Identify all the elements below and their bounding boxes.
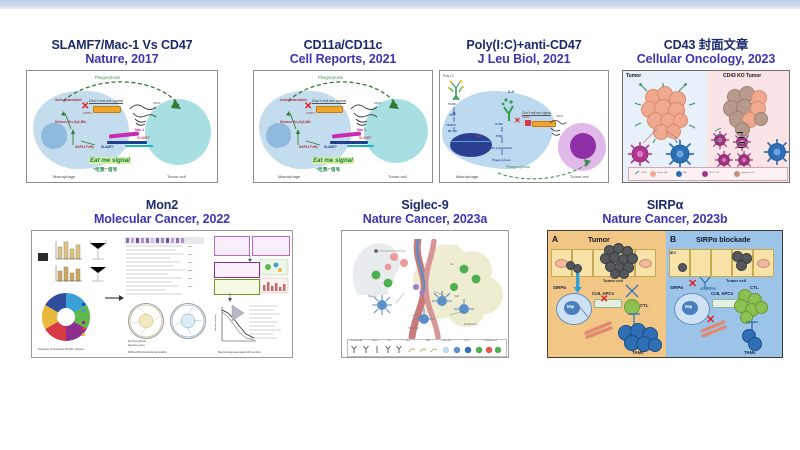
mon2-gene-list: [248, 303, 292, 343]
label-il6r: IL-6R: [495, 123, 503, 126]
mon2-caption-2: Macrophage associated with survival: [218, 352, 260, 355]
panel-mon2: Mon2 Molecular Cancer, 2022: [28, 198, 296, 358]
figure-slamf7: Phagocytosis Don't eat me signal ✕ SIRPα…: [26, 70, 218, 183]
label-mac1: Mac-1: [357, 129, 366, 132]
anti-cd47-block: [525, 120, 531, 126]
svg-text:Survival probability: Survival probability: [214, 314, 217, 331]
label-mphi-b: Mφ: [685, 304, 692, 309]
figure-siglec9: Siglec-9Sia TAMTumor cell Endothelium: [341, 230, 509, 358]
svg-text:TAM: TAM: [454, 295, 459, 298]
label-macrophage: Macrophage: [278, 175, 300, 179]
label-eat-me: Eat me signal: [312, 157, 354, 164]
cd43-legend-icons: [631, 169, 785, 179]
svg-text:gene: gene: [188, 270, 193, 272]
panel-title-polyic: Poly(I:C)+anti-CD47 J Leu Biol, 2021: [434, 38, 614, 66]
tumor-cell-small-a2: [573, 264, 582, 273]
mon2-box-vio-1: [214, 236, 250, 256]
label-cc8-apcs-b: Cc8. APCs: [711, 291, 733, 296]
panel-cd43: CD43 封面文章 Cellular Oncology, 2023 Tumor …: [618, 38, 794, 183]
panel-title-sirpa: SIRPα Nature Cancer, 2023b: [545, 198, 785, 226]
svg-text:gene: gene: [188, 246, 193, 248]
panel-siglec9: Siglec-9 Nature Cancer, 2023a: [330, 198, 520, 358]
signal-arrows-icon: [51, 101, 101, 149]
label-ctl-b: CTL: [750, 285, 759, 290]
macrophage-right-icon: [763, 137, 790, 167]
mon2-caption-1: MDS/scRNA functional annotation: [128, 352, 167, 355]
macrophage-nucleus: [450, 133, 492, 157]
label-sirpa-b: SIRPα: [670, 285, 683, 290]
mon2-triangle-icon: [230, 303, 246, 323]
mon2-network-circle-1: [128, 303, 164, 339]
label-eat-me: Eat me signal: [89, 157, 131, 164]
label-cd47: CD47: [556, 115, 563, 118]
sirpa-panel-a-letter: A: [552, 234, 558, 244]
label-tumor-header: Tumor: [626, 74, 641, 79]
panel-title-mon2: Mon2 Molecular Cancer, 2022: [28, 198, 296, 226]
cd47-receptor-icon: [548, 119, 568, 141]
figure-mon2: Discovery of Extended CD169+ clusters: [31, 230, 293, 358]
svg-text:Siglec-9: Siglec-9: [368, 295, 377, 298]
label-sirpa: SIRPα: [522, 117, 530, 120]
cd47-receptor-icon: [127, 101, 161, 129]
mon2-box-vio-2: [252, 236, 290, 256]
slamf7-bar-macrophage: [330, 141, 368, 144]
slamf7-bar-macrophage: [107, 141, 147, 144]
label-phagocytosis: Phagocytosis: [318, 76, 343, 80]
mon2-network-circle-2: [170, 303, 206, 339]
label-tams-b: TAMs: [744, 350, 756, 355]
panel-polyic-anticd47: Poly(I:C)+anti-CD47 J Leu Biol, 2021 IL-…: [434, 38, 614, 183]
mon2-network-note-2: Signature genes: [128, 345, 145, 347]
figure-cd43: Tumor CD43 KO Tumor: [622, 70, 790, 183]
siglec9-legend-item-4: Neu: [406, 341, 409, 343]
shed-cd43-fragments-icon: [713, 127, 759, 155]
label-phagocytosis: Phagocytosis: [95, 76, 120, 80]
label-cd47: CD47: [153, 102, 161, 105]
block-x-icon: ✕: [514, 117, 521, 125]
svg-text:gene: gene: [188, 254, 193, 256]
left-connector-lines: [635, 127, 685, 147]
pathway-arrows-icon: [450, 107, 470, 133]
mon2-mini-plots: [260, 259, 290, 295]
cd43-legend-item-1: Tumor cell: [657, 172, 667, 174]
cd43-legend-item-2: Mφ: [683, 172, 686, 174]
cd43-legend-item-5: apoptotic cell: [741, 172, 754, 174]
mon2-box-purple: [214, 262, 260, 278]
figure-cd11a: Phagocytosis Don't eat me signal ✕ SIRPα…: [253, 70, 433, 183]
label-tumor-cell-b: Tumor cell: [726, 278, 746, 283]
svg-text:Sia: Sia: [450, 263, 454, 266]
mon2-down-arrow-icon: [212, 293, 232, 303]
panel-cd11a-cd11c: CD11a/CD11c Cell Reports, 2021 Phagocyto…: [248, 38, 438, 183]
figure-polyic: IL-6 Poly I:C TLR3 TRIF TRAF6 NF-κB IL-6: [439, 70, 609, 183]
siglec9-legend-item-6: TAM: [426, 341, 430, 343]
cd47-receptor-icon: [348, 101, 382, 129]
label-il6: IL-6: [508, 91, 514, 94]
tumor-cell-small-b1: [678, 263, 687, 272]
mon2-donut-chart: [36, 287, 98, 347]
panel-title-slamf7: SLAMF7/Mac-1 Vs CD47 Nature, 2017: [18, 38, 226, 66]
siglec9-legend-item-2: Siglec-9: [372, 341, 379, 343]
sirpa-panel-b-letter: B: [670, 234, 676, 244]
sirpa-panel-b-header: SIRPα blockade: [696, 235, 750, 244]
cytokine-block-x-icon: ✕: [706, 315, 715, 326]
label-phagocytosis: Phagocytosis: [506, 165, 530, 169]
label-poly-ic: Poly I:C: [443, 75, 454, 78]
mon2-bar-charts: [36, 237, 110, 285]
label-tumor-cell: Tumor cell: [167, 175, 186, 179]
svg-text:gene: gene: [188, 278, 193, 280]
mon2-flow-arrow-icon: [104, 293, 126, 303]
label-iec: IEC: [670, 251, 676, 255]
label-cd43-ko-header: CD43 KO Tumor: [723, 74, 761, 79]
panel-sirpa: SIRPα Nature Cancer, 2023b A Tumor B SIR…: [545, 198, 785, 358]
figure-sirpa: A Tumor B SIRPα blockade: [547, 230, 783, 358]
antibody-icon: [696, 275, 716, 291]
siglec9-legend-item-7: Tumor cell: [442, 341, 451, 343]
siglec9-legend-item-3: Sia: [388, 341, 391, 343]
slide-canvas: SLAMF7/Mac-1 Vs CD47 Nature, 2017 Phagoc…: [0, 0, 800, 450]
slide-top-band: [0, 0, 800, 9]
label-il6-gene: IL-6: [476, 135, 481, 138]
label-slamf7-tumor: SLAMF7: [359, 137, 372, 140]
svg-text:gene: gene: [188, 286, 193, 288]
siglec9-legend: Checkpoint Ab Siglec-9 Sia Neu TAM Tumor…: [347, 339, 507, 357]
panel-slamf7-mac1-cd47: SLAMF7/Mac-1 Vs CD47 Nature, 2017 Phagoc…: [18, 38, 226, 183]
mon2-caption-0: Discovery of Extended CD169+ clusters: [38, 349, 84, 352]
dna-strand-icon: [452, 141, 490, 142]
cd43-legend-item-0: CD43: [641, 172, 647, 174]
label-tumor-cell-a: Tumor cell: [603, 278, 623, 283]
panel-title-cd11a: CD11a/CD11c Cell Reports, 2021: [248, 38, 438, 66]
label-slamf7-macrophage: SLAMF7: [101, 146, 114, 149]
label-macrophage: Macrophage: [53, 175, 75, 179]
label-tumor-cell: Tumor cell: [570, 175, 589, 179]
label-slamf7-tumor: SLAMF7: [137, 137, 150, 140]
svg-text:Tumor cell: Tumor cell: [408, 327, 420, 330]
label-tlr3: TLR3: [448, 103, 456, 106]
label-mac1: Mac-1: [135, 129, 144, 132]
cd43-legend-item-4: CD8 T cell: [709, 172, 719, 174]
svg-text:Endothelium: Endothelium: [464, 323, 477, 326]
label-cd47: CD47: [374, 102, 382, 105]
label-mphi-a: Mφ: [567, 304, 574, 309]
siglec9-legend-item-0: Checkpoint Ab: [350, 341, 362, 343]
label-ctl-a: CTL: [640, 303, 649, 308]
mon2-network-note-1: Enriched pathway: [128, 341, 146, 343]
cd43-legend: CD43 Tumor cell Mφ CD8 T cell apoptotic …: [628, 167, 788, 181]
signal-arrows-icon: [276, 101, 326, 149]
apc-block-x-a-icon: ✕: [600, 295, 608, 305]
siglec9-legend-item-14: Endothelial cell: [484, 341, 497, 343]
panel-title-cd43: CD43 封面文章 Cellular Oncology, 2023: [618, 38, 794, 66]
mon2-heatmap: genegenegene genegenegene: [124, 237, 204, 299]
svg-text:gene: gene: [188, 262, 193, 264]
siglec9-legend-icons: [350, 345, 504, 356]
siglec9-cells: Siglec-9Sia TAMTumor cell Endothelium: [368, 253, 508, 337]
label-sirpa-a: SIRPα: [553, 285, 566, 290]
panel-title-siglec9: Siglec-9 Nature Cancer, 2023a: [330, 198, 520, 226]
label-eat-me-chinese: “吃我” 信号: [93, 167, 117, 173]
siglec9-legend-item-10: CD8 T: [464, 341, 469, 343]
label-tumor-cell: Tumor cell: [388, 175, 407, 179]
label-macrophage: Macrophage: [456, 175, 478, 179]
sirpa-panel-a-header: Tumor: [588, 235, 610, 244]
label-eat-me-chinese: “吃我” 信号: [316, 167, 340, 173]
label-tams-a: TAMs: [632, 350, 644, 355]
